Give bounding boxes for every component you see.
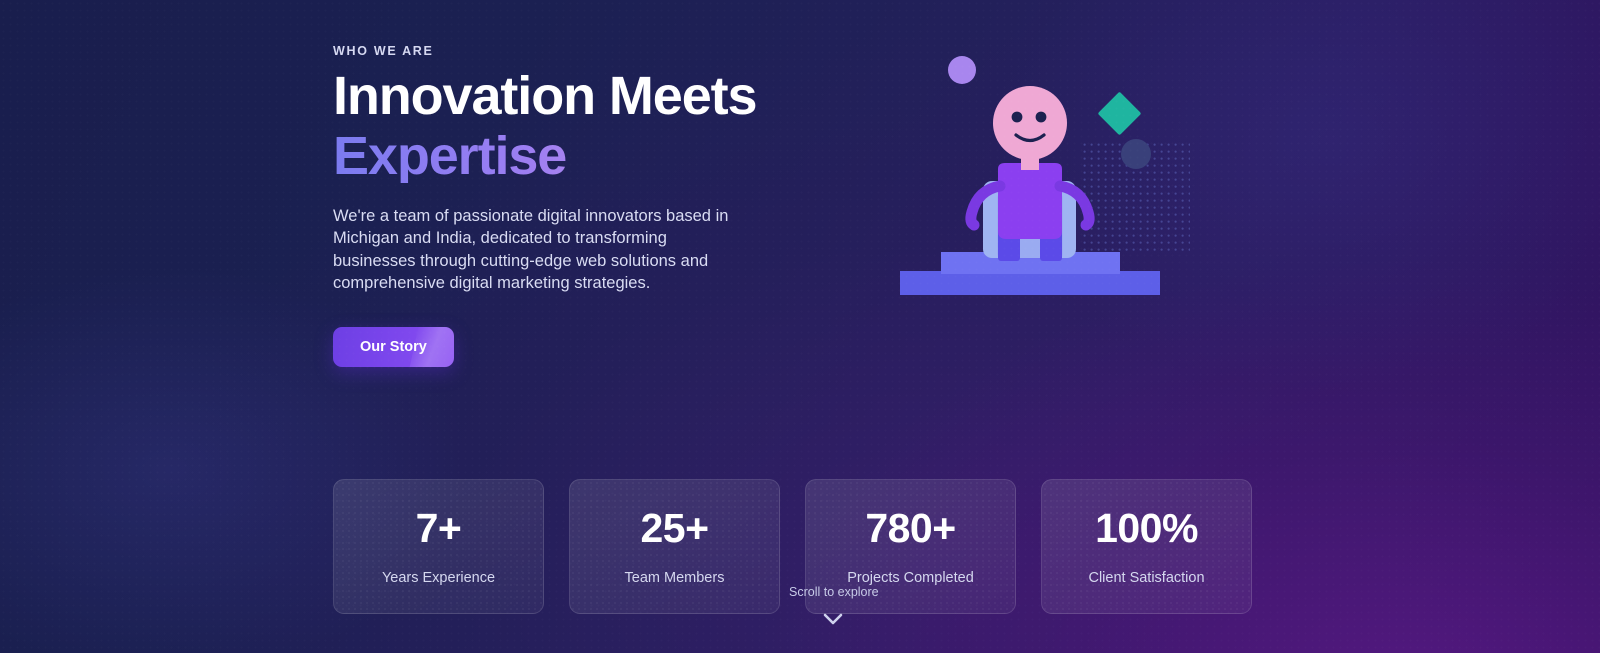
podium-lower-tier (900, 271, 1160, 295)
our-story-button[interactable]: Our Story (333, 327, 454, 367)
torso (998, 163, 1062, 239)
head (993, 86, 1067, 160)
chevron-down-icon[interactable] (789, 611, 877, 627)
scroll-indicator-label: Scroll to explore (789, 585, 877, 599)
slate-circle-icon (1121, 139, 1151, 169)
stat-value: 100% (1095, 508, 1198, 549)
hero-description: We're a team of passionate digital innov… (333, 205, 753, 294)
scroll-indicator[interactable]: Scroll to explore (789, 585, 877, 627)
page-title: Innovation Meets Expertise (333, 69, 803, 183)
our-story-button-label: Our Story (360, 339, 427, 355)
stat-value: 25+ (640, 508, 708, 549)
stat-card-client-satisfaction: 100% Client Satisfaction (1041, 479, 1252, 614)
stat-card-years-experience: 7+ Years Experience (333, 479, 544, 614)
section-eyebrow: WHO WE ARE (333, 44, 803, 58)
stat-value: 7+ (416, 508, 462, 549)
left-eye (1012, 112, 1023, 123)
stat-label: Projects Completed (847, 570, 974, 586)
stat-label: Years Experience (382, 570, 495, 586)
person-on-podium-illustration (880, 38, 1200, 318)
page-title-line-1: Innovation Meets (333, 69, 803, 123)
page-title-line-2: Expertise (333, 129, 803, 183)
stat-card-team-members: 25+ Team Members (569, 479, 780, 614)
hero-section: WHO WE ARE Innovation Meets Expertise We… (0, 0, 1600, 653)
hero-text-column: WHO WE ARE Innovation Meets Expertise We… (333, 44, 803, 367)
stat-label: Client Satisfaction (1088, 570, 1204, 586)
teal-diamond-icon (1098, 92, 1142, 136)
right-eye (1036, 112, 1047, 123)
purple-circle-icon (948, 56, 976, 84)
stat-value: 780+ (865, 508, 955, 549)
stat-label: Team Members (625, 570, 725, 586)
